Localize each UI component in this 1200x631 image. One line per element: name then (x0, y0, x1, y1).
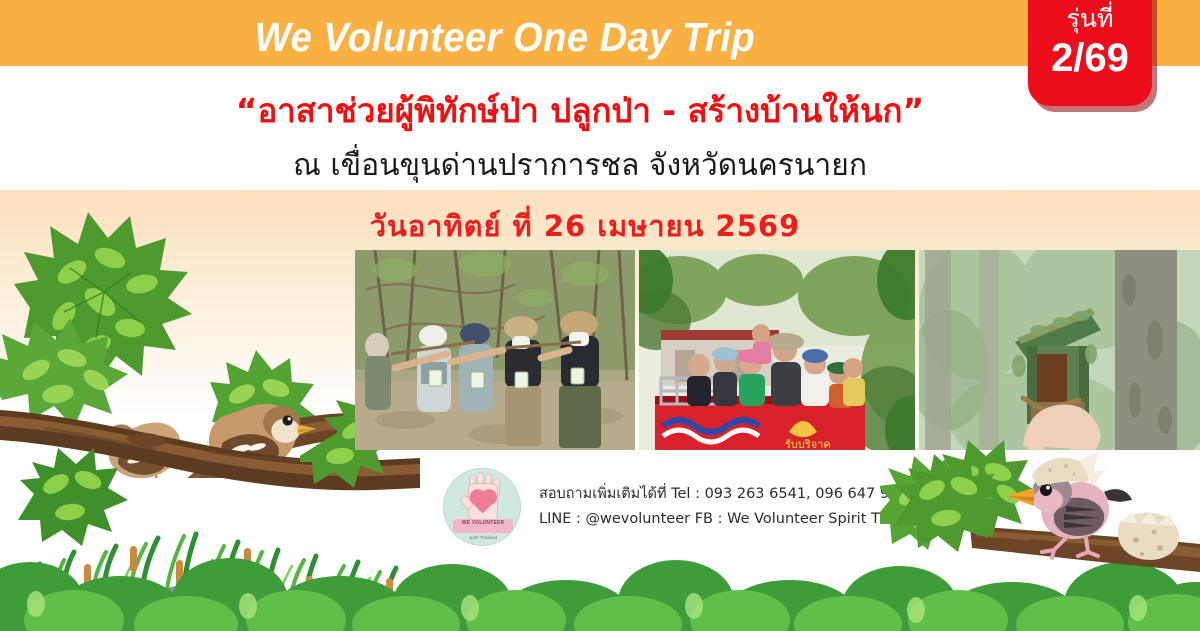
batch-badge: รุ่นที่ 2/69 (1028, 0, 1152, 106)
svg-text:รับบริจาค: รับบริจาค (785, 439, 831, 450)
logo-ribbon-text: WE VOLUNTEER (453, 520, 513, 526)
poster-date-th: วันอาทิตย์ ที่ 26 เมษายน 2569 (0, 203, 1170, 249)
poster-place-th: ณ เขื่อนขุนด่านปราการชล จังหวัดนครนายก (0, 142, 1160, 189)
poster-headline-th: “อาสาช่วยผู้พิทักษ์ป่า ปลูกป่า - สร้างบ้… (0, 84, 1160, 137)
contact-phone-line: สอบถามเพิ่มเติมได้ที่ Tel : 093 263 6541… (539, 482, 933, 507)
photo-volunteers-forest (355, 250, 635, 450)
photo-strip: รับบริจาค (355, 250, 1200, 450)
logo-sub-text: spirit Thailand (453, 535, 513, 540)
contact-text: สอบถามเพิ่มเติมได้ที่ Tel : 093 263 6541… (539, 482, 933, 533)
photo-birdhouse (919, 250, 1200, 450)
photo-truck-volunteers: รับบริจาค (639, 250, 915, 450)
poster-title-en: We Volunteer One Day Trip (35, 14, 974, 61)
we-volunteer-logo: WE VOLUNTEER spirit Thailand (443, 468, 521, 546)
batch-badge-number: 2/69 (1028, 36, 1152, 80)
poster-canvas: รับบริจาค (0, 0, 1200, 631)
contact-social-line: LINE : @wevolunteer FB : We Volunteer Sp… (539, 507, 933, 532)
batch-badge-label: รุ่นที่ (1028, 2, 1152, 36)
contact-block: WE VOLUNTEER spirit Thailand สอบถามเพิ่ม… (443, 468, 933, 546)
logo-ribbon: WE VOLUNTEER (453, 519, 513, 533)
